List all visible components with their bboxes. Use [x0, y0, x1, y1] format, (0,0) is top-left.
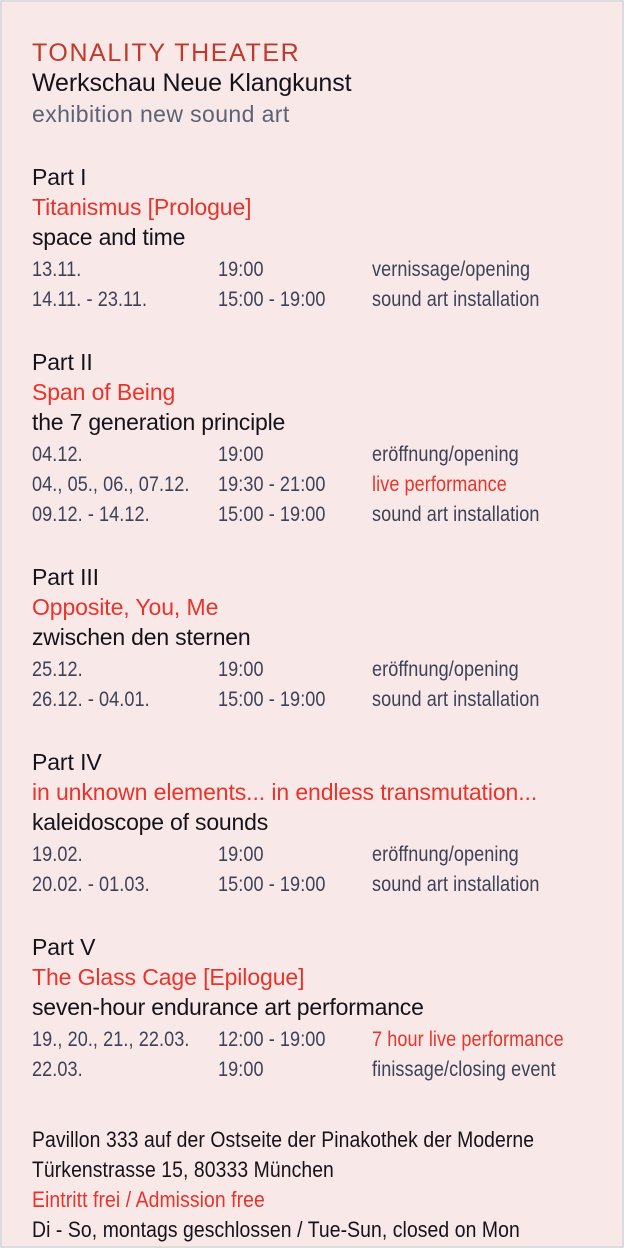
schedule-row: 25.12.19:00eröffnung/opening — [32, 655, 608, 685]
schedule-date: 14.11. - 23.11. — [32, 285, 147, 315]
parts-list: Part ITitanismus [Prologue]space and tim… — [32, 162, 608, 1085]
schedule-note: sound art installation — [372, 285, 540, 315]
schedule-date: 20.02. - 01.03. — [32, 870, 150, 900]
schedule-time: 19:00 — [218, 255, 264, 285]
schedule-time: 15:00 - 19:00 — [218, 285, 326, 315]
part-description: zwischen den sternen — [32, 622, 608, 653]
schedule-note: live performance — [372, 470, 507, 500]
part-description: the 7 generation principle — [32, 407, 608, 438]
schedule-time: 19:00 — [218, 840, 264, 870]
schedule-date: 13.11. — [32, 255, 81, 285]
venue-line: Eintritt frei / Admission free — [32, 1185, 539, 1215]
part-title: The Glass Cage [Epilogue] — [32, 962, 608, 992]
venue-line: Türkenstrasse 15, 80333 München — [32, 1155, 539, 1185]
part-title: Span of Being — [32, 377, 608, 407]
schedule-date: 25.12. — [32, 655, 83, 685]
schedule-time: 12:00 - 19:00 — [218, 1025, 326, 1055]
schedule-time: 15:00 - 19:00 — [218, 500, 326, 530]
part-section: Part VThe Glass Cage [Epilogue]seven-hou… — [32, 932, 608, 1085]
schedule-row: 14.11. - 23.11.15:00 - 19:00sound art in… — [32, 285, 608, 315]
schedule-time: 19:00 — [218, 1055, 264, 1085]
part-section: Part ITitanismus [Prologue]space and tim… — [32, 162, 608, 315]
part-section: Part IISpan of Beingthe 7 generation pri… — [32, 347, 608, 530]
schedule-date: 26.12. - 04.01. — [32, 685, 150, 715]
schedule-date: 22.03. — [32, 1055, 83, 1085]
part-label: Part V — [32, 932, 608, 962]
schedule-time: 19:00 — [218, 440, 264, 470]
part-title: Opposite, You, Me — [32, 592, 608, 622]
schedule-note: vernissage/opening — [372, 255, 530, 285]
poster-content: TONALITY THEATER Werkschau Neue Klangkun… — [32, 38, 608, 1245]
part-description: seven-hour endurance art performance — [32, 992, 608, 1023]
schedule-row: 19., 20., 21., 22.03.12:00 - 19:007 hour… — [32, 1025, 608, 1055]
part-label: Part II — [32, 347, 608, 377]
venue-line: Pavillon 333 auf der Ostseite der Pinako… — [32, 1125, 539, 1155]
part-section: Part IIIOpposite, You, Mezwischen den st… — [32, 562, 608, 715]
part-label: Part I — [32, 162, 608, 192]
schedule-note: sound art installation — [372, 870, 540, 900]
schedule-note: sound art installation — [372, 685, 540, 715]
part-title: in unknown elements... in endless transm… — [32, 777, 608, 807]
schedule-note: eröffnung/opening — [372, 840, 519, 870]
part-description: space and time — [32, 222, 608, 253]
poster-subtitle-de: Werkschau Neue Klangkunst — [32, 68, 608, 99]
schedule-date: 04.12. — [32, 440, 83, 470]
part-section: Part IVin unknown elements... in endless… — [32, 747, 608, 900]
schedule-note: eröffnung/opening — [372, 440, 519, 470]
poster-title: TONALITY THEATER — [32, 38, 608, 68]
venue-line: Di - So, montags geschlossen / Tue-Sun, … — [32, 1215, 539, 1245]
part-title: Titanismus [Prologue] — [32, 192, 608, 222]
event-poster: TONALITY THEATER Werkschau Neue Klangkun… — [0, 0, 624, 1248]
schedule-table: 19., 20., 21., 22.03.12:00 - 19:007 hour… — [32, 1025, 608, 1085]
schedule-note: finissage/closing event — [372, 1055, 556, 1085]
schedule-row: 04., 05., 06., 07.12.19:30 - 21:00live p… — [32, 470, 608, 500]
schedule-note: sound art installation — [372, 500, 540, 530]
schedule-note: 7 hour live performance — [372, 1025, 564, 1055]
schedule-row: 20.02. - 01.03.15:00 - 19:00sound art in… — [32, 870, 608, 900]
schedule-time: 15:00 - 19:00 — [218, 685, 326, 715]
schedule-row: 26.12. - 04.01.15:00 - 19:00sound art in… — [32, 685, 608, 715]
schedule-row: 13.11.19:00vernissage/opening — [32, 255, 608, 285]
schedule-row: 19.02.19:00eröffnung/opening — [32, 840, 608, 870]
poster-subtitle-en: exhibition new sound art — [32, 99, 608, 130]
schedule-row: 22.03.19:00finissage/closing event — [32, 1055, 608, 1085]
schedule-date: 04., 05., 06., 07.12. — [32, 470, 189, 500]
schedule-date: 19., 20., 21., 22.03. — [32, 1025, 189, 1055]
part-description: kaleidoscope of sounds — [32, 807, 608, 838]
schedule-table: 13.11.19:00vernissage/opening14.11. - 23… — [32, 255, 608, 315]
schedule-date: 19.02. — [32, 840, 83, 870]
part-label: Part III — [32, 562, 608, 592]
schedule-table: 04.12.19:00eröffnung/opening04., 05., 06… — [32, 440, 608, 530]
schedule-date: 09.12. - 14.12. — [32, 500, 150, 530]
schedule-note: eröffnung/opening — [372, 655, 519, 685]
part-label: Part IV — [32, 747, 608, 777]
venue-info: Pavillon 333 auf der Ostseite der Pinako… — [32, 1125, 608, 1245]
poster-header: TONALITY THEATER Werkschau Neue Klangkun… — [32, 38, 608, 130]
schedule-time: 19:30 - 21:00 — [218, 470, 326, 500]
schedule-time: 19:00 — [218, 655, 264, 685]
schedule-time: 15:00 - 19:00 — [218, 870, 326, 900]
schedule-row: 09.12. - 14.12.15:00 - 19:00sound art in… — [32, 500, 608, 530]
schedule-row: 04.12.19:00eröffnung/opening — [32, 440, 608, 470]
schedule-table: 25.12.19:00eröffnung/opening26.12. - 04.… — [32, 655, 608, 715]
schedule-table: 19.02.19:00eröffnung/opening20.02. - 01.… — [32, 840, 608, 900]
